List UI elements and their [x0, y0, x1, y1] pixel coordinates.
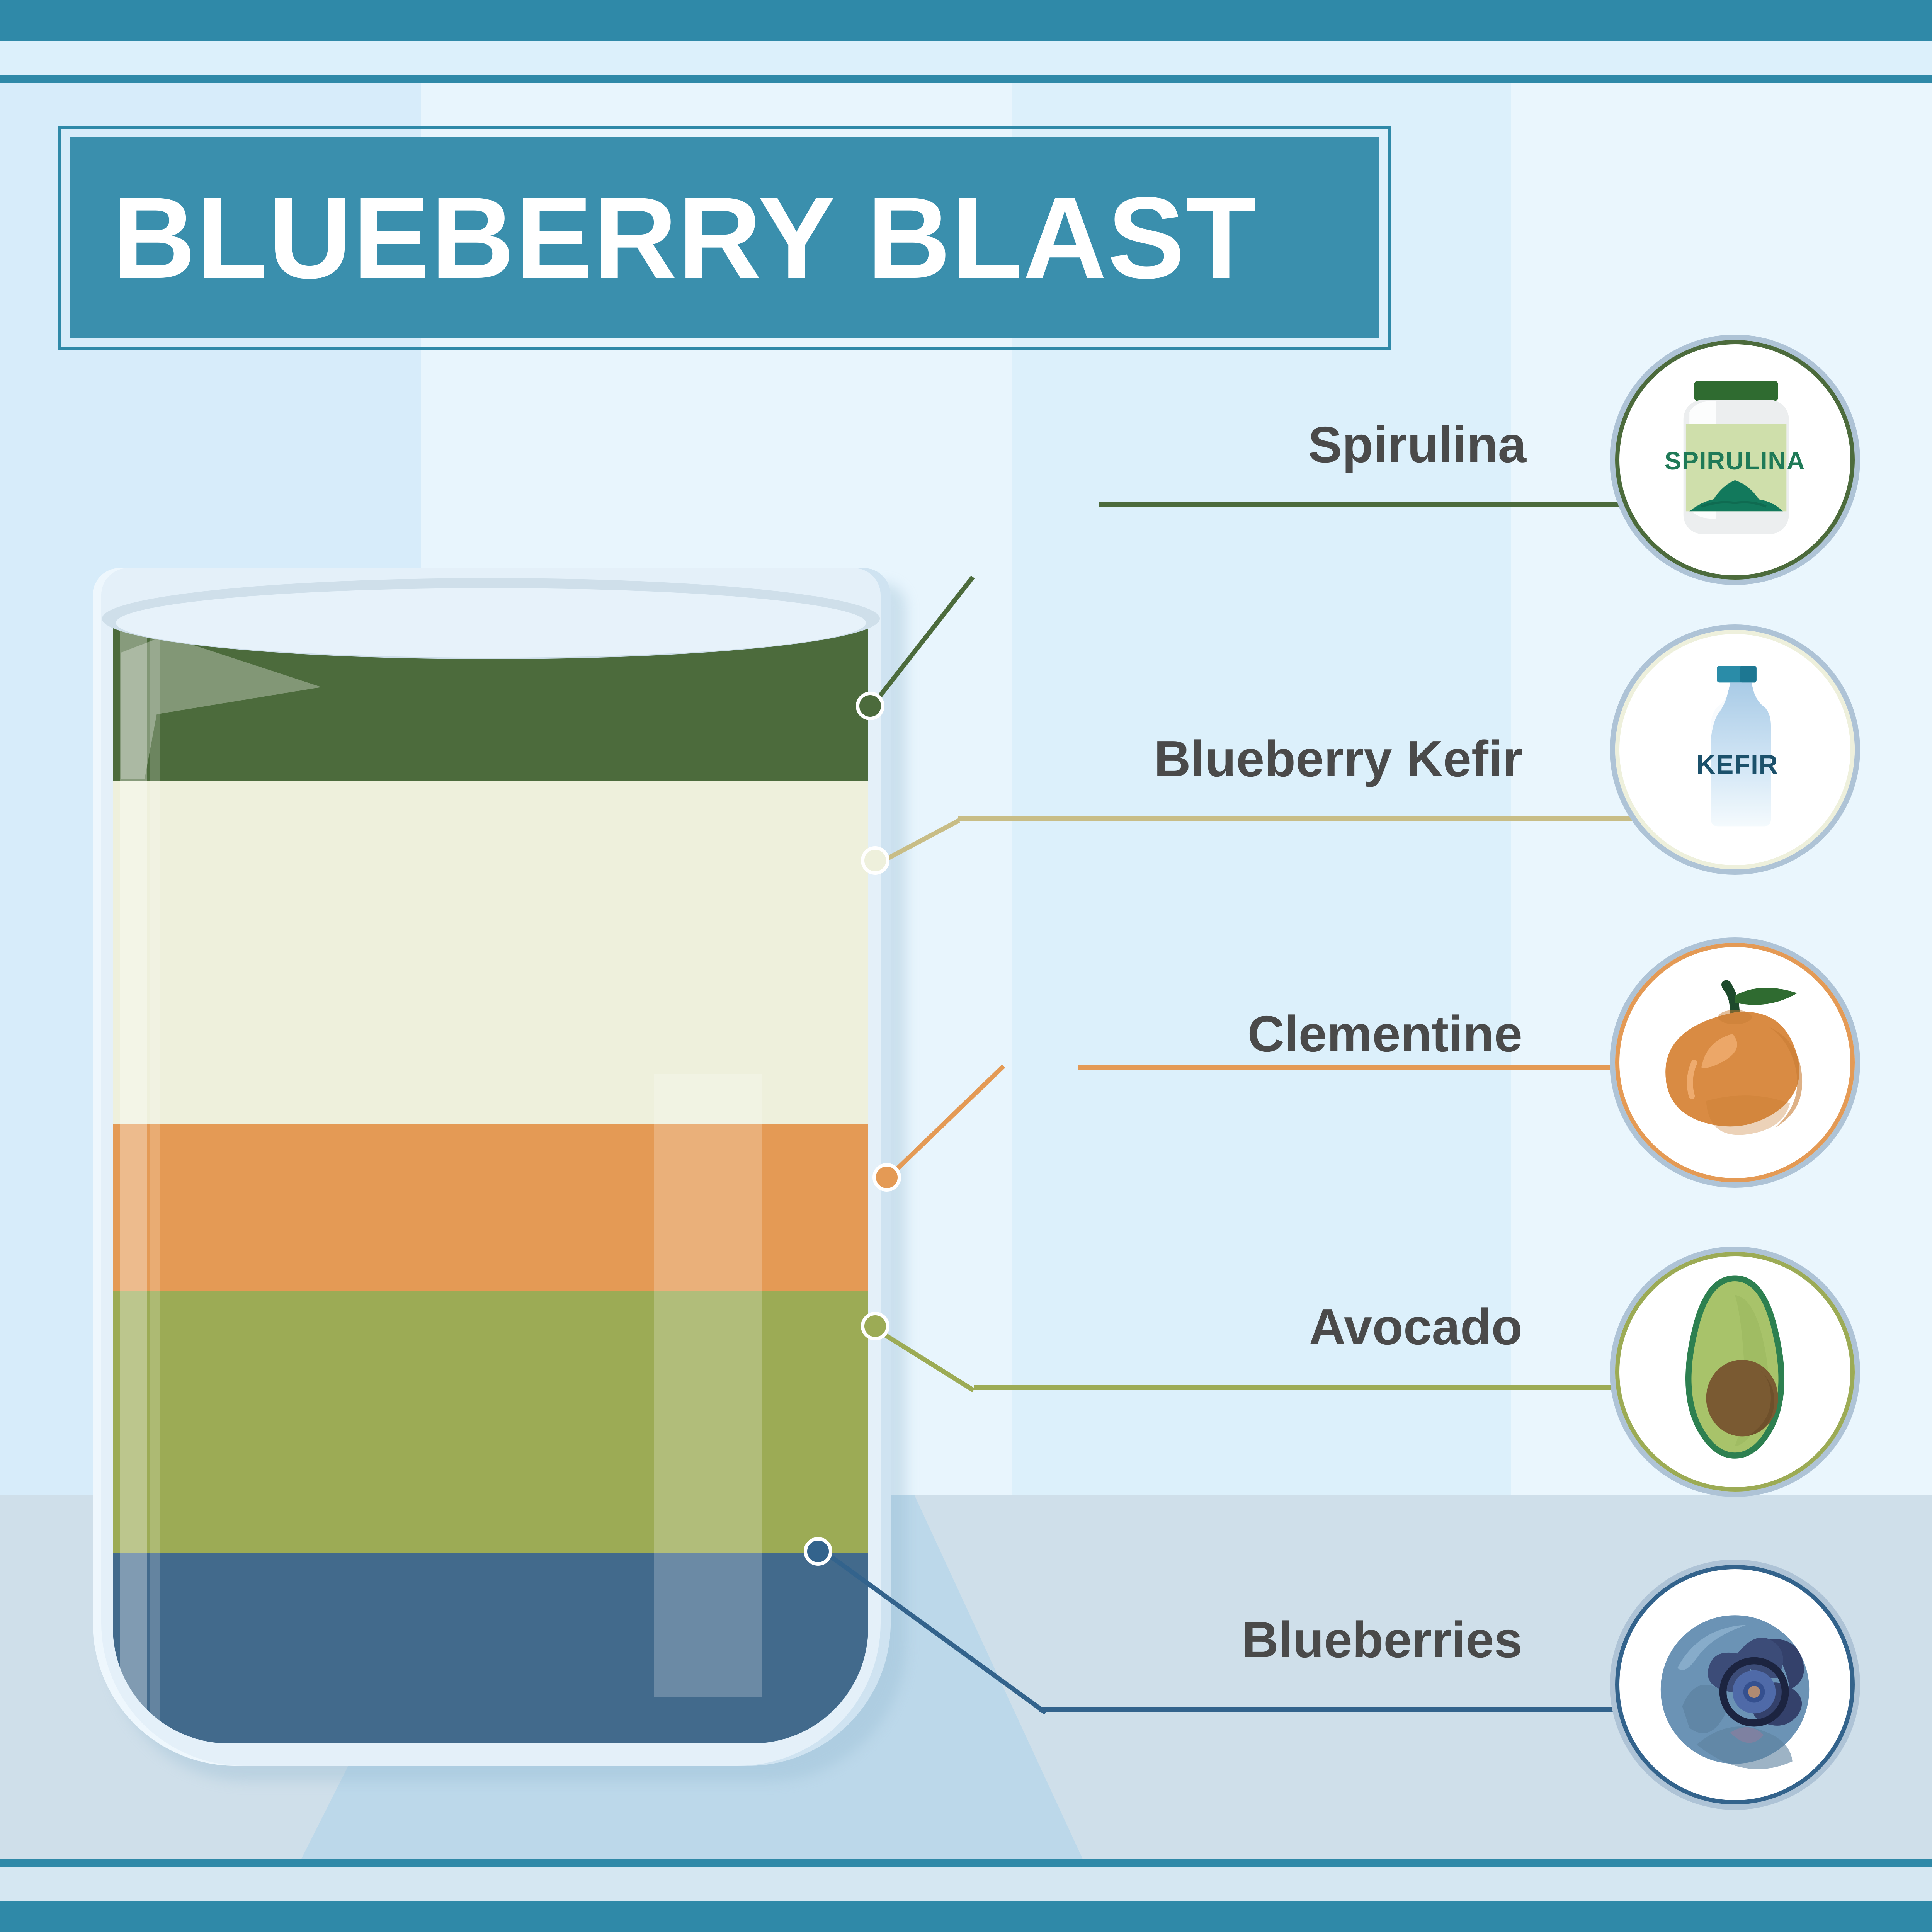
label-kefir: Blueberry Kefir	[1039, 733, 1522, 784]
title-block: BLUEBERRY BLAST	[70, 137, 1379, 338]
icon-circle-blueberries[interactable]	[1615, 1565, 1855, 1804]
label-spirulina: Spirulina	[1074, 419, 1526, 470]
dot-kefir[interactable]	[861, 846, 889, 875]
icon-circle-kefir[interactable]: KEFIR	[1615, 630, 1855, 869]
glass-left-shine-2	[150, 614, 160, 1743]
label-clementine: Clementine	[1039, 1009, 1522, 1060]
glass-left-shine	[120, 614, 147, 1743]
dot-blueberries[interactable]	[804, 1537, 832, 1566]
bottom-light-band	[0, 1867, 1932, 1901]
bottom-teal-rule	[0, 1859, 1932, 1867]
glass-right-highlight	[654, 1074, 762, 1697]
connector-avocado-horizontal	[974, 1385, 1669, 1390]
dot-clementine[interactable]	[872, 1163, 901, 1192]
icon-circle-avocado[interactable]	[1615, 1252, 1855, 1492]
glass-rim-inner	[116, 588, 866, 658]
dot-avocado[interactable]	[861, 1312, 889, 1340]
page-title: BLUEBERRY BLAST	[70, 180, 1257, 296]
glass-body	[93, 568, 891, 1766]
svg-text:KEFIR: KEFIR	[1696, 750, 1778, 779]
avocado-icon	[1615, 1252, 1855, 1492]
blueberry-icon	[1615, 1565, 1855, 1804]
smoothie-glass	[93, 568, 891, 1766]
clementine-icon	[1615, 943, 1855, 1182]
top-teal-bar	[0, 0, 1932, 41]
top-teal-rule	[0, 75, 1932, 83]
glass-contents	[113, 614, 868, 1743]
layer-kefir	[113, 781, 868, 1124]
icon-circle-clementine[interactable]	[1615, 943, 1855, 1182]
label-blueberries: Blueberries	[1039, 1614, 1522, 1665]
spirulina-jar-icon: SPIRULINA	[1615, 340, 1855, 580]
connector-clementine-horizontal	[1078, 1065, 1665, 1070]
icon-circle-spirulina[interactable]: SPIRULINA	[1615, 340, 1855, 580]
top-light-band	[0, 41, 1932, 75]
svg-text:SPIRULINA: SPIRULINA	[1665, 447, 1806, 475]
bottom-teal-bar	[0, 1901, 1932, 1932]
kefir-bottle-icon: KEFIR	[1615, 630, 1855, 869]
connector-spirulina-horizontal	[1099, 502, 1662, 507]
connector-blueberries-horizontal	[1039, 1707, 1673, 1712]
connector-kefir-horizontal	[958, 816, 1665, 821]
dot-spirulina[interactable]	[856, 692, 884, 720]
label-avocado: Avocado	[1039, 1301, 1522, 1352]
infographic-canvas: BLUEBERRY BLAST	[0, 0, 1932, 1932]
